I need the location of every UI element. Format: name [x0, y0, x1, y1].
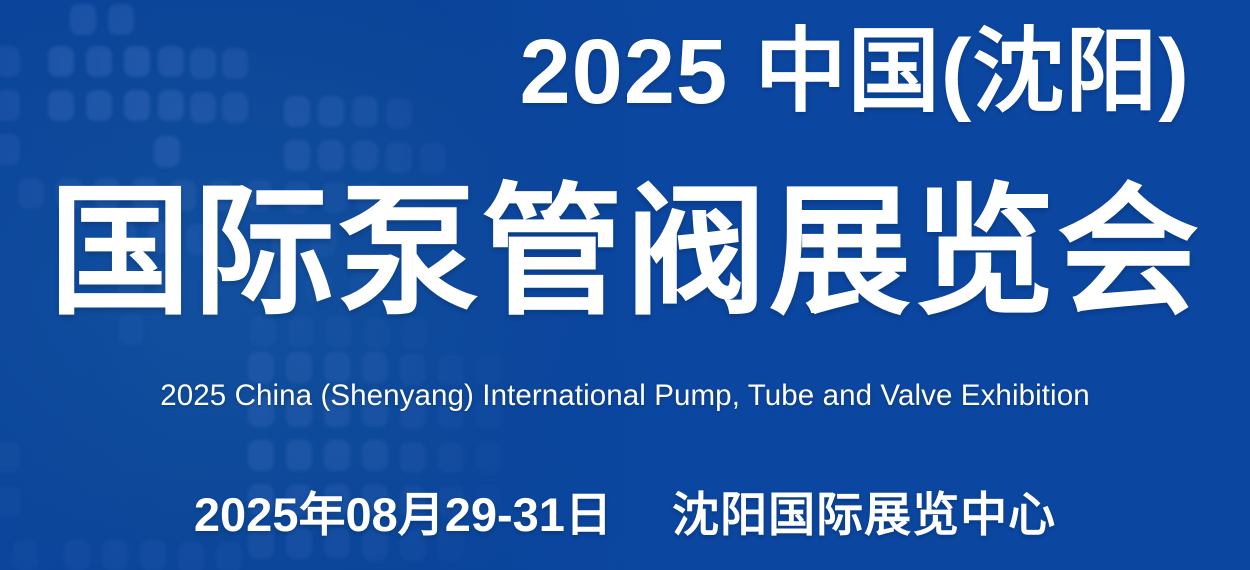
exhibition-banner: 2025 中国(沈阳) 国际泵管阀展览会 2025 China (Shenyan… — [0, 0, 1250, 570]
banner-event-venue: 沈阳国际展览中心 — [672, 488, 1056, 541]
banner-footer: 2025年08月29-31日 沈阳国际展览中心 — [0, 489, 1250, 541]
banner-content: 2025 中国(沈阳) 国际泵管阀展览会 2025 China (Shenyan… — [0, 0, 1250, 570]
banner-title-line-2: 国际泵管阀展览会 — [0, 178, 1250, 329]
banner-subtitle-english: 2025 China (Shenyang) International Pump… — [0, 380, 1250, 412]
banner-event-date: 2025年08月29-31日 — [194, 488, 612, 541]
banner-title-line-1: 2025 中国(沈阳) — [0, 26, 1190, 118]
